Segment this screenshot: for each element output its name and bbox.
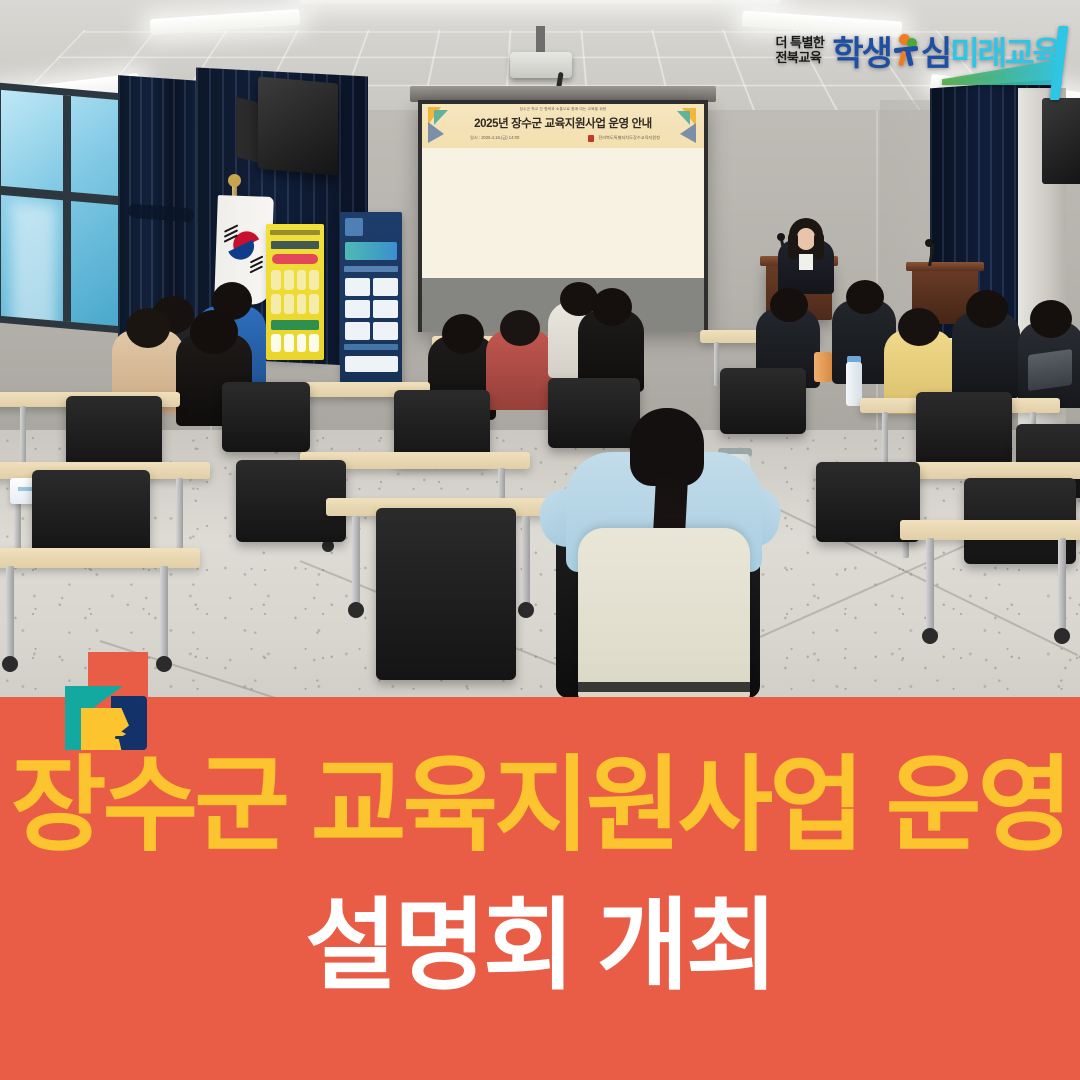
education-office-logo-icon bbox=[65, 686, 147, 750]
desk-leg bbox=[926, 538, 934, 634]
attendee-head bbox=[770, 288, 808, 322]
banner-pill bbox=[272, 254, 318, 264]
banner-card bbox=[373, 278, 398, 296]
banner-row bbox=[271, 294, 319, 314]
logo-face-mouth bbox=[115, 736, 130, 739]
chair bbox=[222, 382, 310, 452]
brand-word-sim: 심 bbox=[921, 26, 950, 75]
chair-caster bbox=[348, 602, 364, 618]
yellow-rollup-banner bbox=[266, 224, 324, 360]
banner-strip bbox=[344, 266, 398, 272]
speaker-bracket bbox=[236, 97, 260, 163]
attendee-head bbox=[846, 280, 884, 314]
banner-strip bbox=[344, 344, 398, 350]
wall-speaker-icon bbox=[1042, 98, 1080, 184]
attendee-head bbox=[1030, 300, 1072, 338]
window-glow bbox=[11, 201, 57, 334]
news-card: 장수군 학교 간 협력과 소통으로 함께 여는 교육을 위한 2025년 장수군… bbox=[0, 0, 1080, 1080]
chair bbox=[548, 378, 640, 448]
attendee-head bbox=[126, 308, 170, 348]
slide-title: 2025년 장수군 교육지원사업 운영 안내 bbox=[422, 115, 704, 131]
microphone-head bbox=[777, 233, 785, 241]
banner-card bbox=[345, 322, 370, 340]
banner-headline-bar bbox=[270, 230, 320, 235]
brand-tagline: 더 특별한 전북교육 bbox=[775, 36, 824, 64]
banner-logo-block bbox=[345, 218, 363, 236]
presenter-hair bbox=[814, 232, 824, 260]
banner-card bbox=[345, 356, 398, 372]
conference-room-photo: 장수군 학교 간 협력과 소통으로 함께 여는 교육을 위한 2025년 장수군… bbox=[0, 0, 1080, 700]
presenter-face bbox=[797, 228, 815, 250]
chair bbox=[720, 368, 806, 434]
attendee-head bbox=[442, 314, 484, 354]
banner-card bbox=[345, 300, 370, 318]
presenter-hair bbox=[788, 232, 798, 260]
attendee-head bbox=[500, 310, 540, 346]
slide-datetime: 일시 : 2025.4.18.(금) 14:00 bbox=[470, 135, 519, 141]
desk-leg bbox=[352, 516, 360, 608]
running-person-icon bbox=[891, 34, 921, 68]
orange-cup bbox=[814, 352, 832, 382]
jeonbuk-education-brand-logo: 더 특별한 전북교육 학생 심 미래교육 bbox=[775, 26, 1060, 75]
desk-leg bbox=[1058, 538, 1066, 634]
attendee-head bbox=[592, 288, 632, 326]
chair-caster bbox=[518, 602, 534, 618]
brand-tagline-line1: 더 특별한 bbox=[775, 36, 824, 50]
chair bbox=[32, 470, 150, 556]
attendee-head bbox=[190, 310, 238, 354]
flag-finial bbox=[228, 174, 241, 187]
banner-card bbox=[345, 278, 370, 296]
laptop-icon bbox=[1028, 349, 1072, 391]
banner-row bbox=[271, 270, 319, 290]
wall-speaker-icon bbox=[258, 77, 338, 176]
desk-leg bbox=[176, 478, 183, 556]
wall-seam bbox=[876, 110, 878, 440]
podium-secondary-top bbox=[906, 262, 984, 271]
slide-title-band: 장수군 학교 간 협력과 소통으로 함께 여는 교육을 위한 2025년 장수군… bbox=[422, 104, 704, 148]
navy-rollup-banner bbox=[340, 212, 402, 390]
desk bbox=[0, 548, 200, 568]
desk-leg bbox=[522, 516, 530, 608]
chair bbox=[66, 396, 162, 470]
slide-organization: 전라북도특별자치도장수교육지원청 bbox=[598, 135, 660, 141]
headline-line2: 설명회 개최 bbox=[0, 896, 1080, 996]
slide-subtitle: 장수군 학교 간 협력과 소통으로 함께 여는 교육을 위한 bbox=[422, 107, 704, 112]
window-mullion bbox=[63, 95, 71, 322]
brand-word-hakseng: 학생 bbox=[832, 26, 891, 75]
microphone-head bbox=[925, 239, 933, 247]
desk-leg bbox=[20, 406, 26, 466]
ceiling-light bbox=[300, 0, 780, 4]
desk-leg bbox=[714, 342, 719, 386]
banner-card bbox=[373, 322, 398, 340]
banner-title-block bbox=[345, 242, 397, 260]
banner-card bbox=[373, 300, 398, 318]
banner-green-bar bbox=[271, 320, 319, 330]
brand-tagline-line2: 전북교육 bbox=[775, 51, 824, 65]
attendee-head bbox=[966, 290, 1008, 328]
headline-line1: 장수군 교육지원사업 운영 bbox=[0, 754, 1080, 858]
chair bbox=[916, 392, 1012, 466]
desk bbox=[900, 520, 1080, 540]
window bbox=[0, 82, 126, 334]
banner-row bbox=[271, 334, 319, 352]
brand-wordmark: 학생 심 미래교육 bbox=[832, 26, 1060, 75]
photo-fade bbox=[0, 640, 1080, 700]
banner-title-bar bbox=[271, 241, 319, 249]
attendee-head bbox=[898, 308, 940, 346]
